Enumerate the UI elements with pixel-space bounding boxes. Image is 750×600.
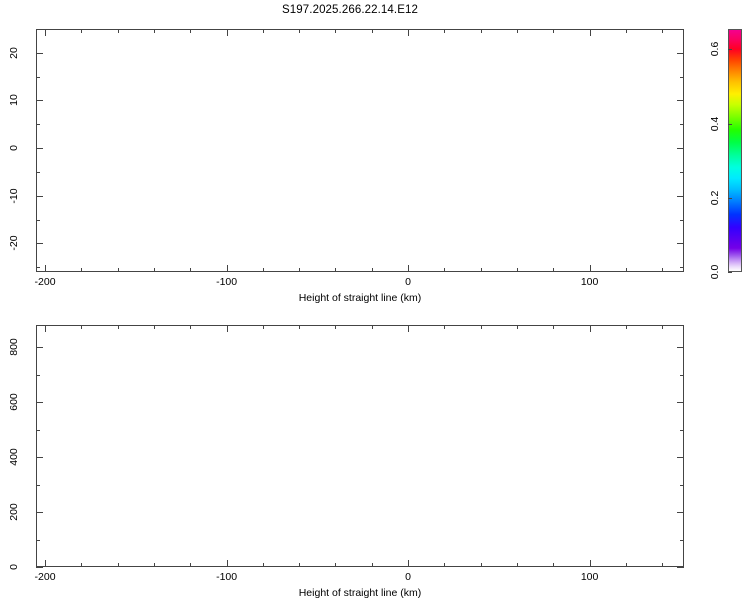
colorbar-tick-label: 0.6 (709, 42, 721, 57)
y-tick-label: -20 (8, 236, 20, 251)
x-tick-label: 100 (581, 571, 599, 583)
x-tick-label: -200 (35, 571, 56, 583)
colorbar-tick-label: 0.0 (709, 265, 721, 280)
figure-title: S197.2025.266.22.14.E12 (0, 4, 700, 16)
x-tick-label: -100 (216, 276, 237, 288)
x-tick-label: 100 (581, 276, 599, 288)
x-tick-label: -200 (35, 276, 56, 288)
spectrogram-panel (36, 29, 684, 272)
y-tick-label: 0 (8, 564, 20, 570)
snr-panel (36, 325, 684, 567)
figure-canvas: S197.2025.266.22.14.E12 -200-1000100-20-… (0, 0, 750, 600)
spectrogram-frame (36, 29, 684, 272)
y-tick-label: 20 (8, 47, 20, 59)
colorbar-gradient (728, 29, 742, 272)
y-tick-label: 200 (8, 503, 20, 521)
x-tick-label: -100 (216, 571, 237, 583)
y-tick-label: 600 (8, 393, 20, 411)
x-tick-label: 0 (405, 276, 411, 288)
x-axis-label: Height of straight line (km) (299, 292, 422, 304)
colorbar (728, 29, 742, 272)
snr-frame (36, 325, 684, 567)
x-axis-label: Height of straight line (km) (299, 587, 422, 599)
x-tick-label: 0 (405, 571, 411, 583)
colorbar-tick-label: 0.4 (709, 116, 721, 131)
y-tick-label: -10 (8, 188, 20, 203)
y-tick-label: 800 (8, 338, 20, 356)
y-tick-label: 0 (8, 145, 20, 151)
y-tick-label: 400 (8, 448, 20, 466)
y-tick-label: 10 (8, 95, 20, 107)
colorbar-tick-label: 0.2 (709, 190, 721, 205)
